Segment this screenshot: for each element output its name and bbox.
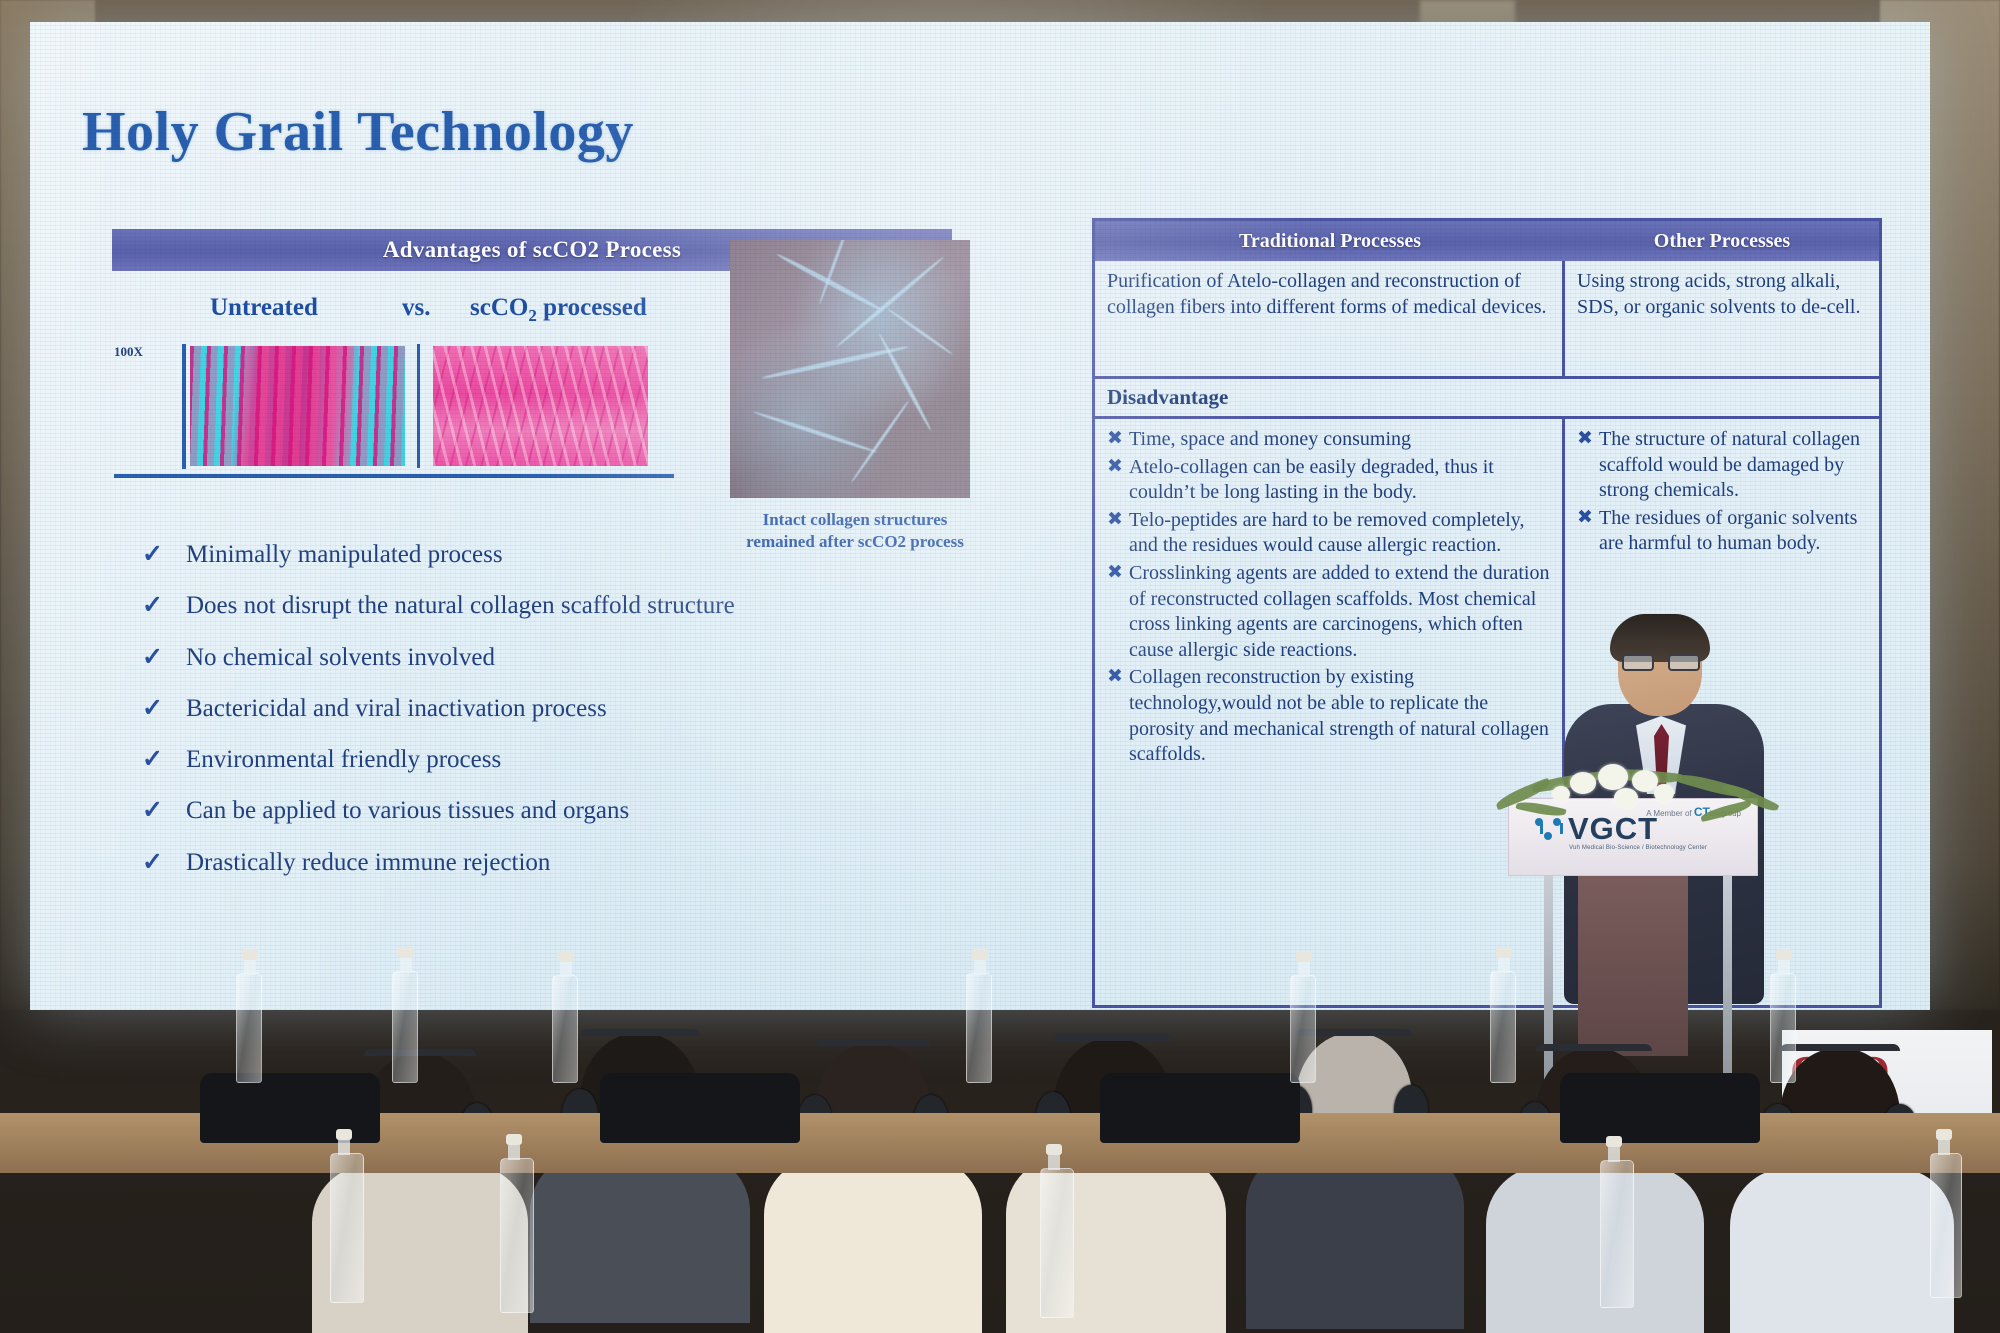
comparison-labels: Untreated vs. scCO2 processed bbox=[180, 294, 820, 330]
water-bottle bbox=[966, 973, 992, 1083]
column-header-traditional: Traditional Processes bbox=[1095, 221, 1565, 261]
disadvantage-traditional-3: ✖Crosslinking agents are added to extend… bbox=[1107, 561, 1550, 663]
shoulders bbox=[764, 1157, 982, 1333]
headset-band bbox=[1536, 1044, 1652, 1051]
cell-traditional-description: Purification of Atelo-collagen and recon… bbox=[1095, 261, 1565, 376]
shoulders bbox=[530, 1153, 750, 1323]
conference-photo: Holy Grail Technology Advantages of scCO… bbox=[0, 0, 2000, 1333]
water-bottle bbox=[330, 1153, 364, 1303]
checklist-item-1: ✓Does not disrupt the natural collagen s… bbox=[142, 593, 862, 619]
vs-label: vs. bbox=[402, 294, 430, 322]
table-row: Purification of Atelo-collagen and recon… bbox=[1095, 261, 1879, 376]
headset-band bbox=[580, 1029, 700, 1036]
cross-icon: ✖ bbox=[1107, 427, 1129, 453]
cross-icon: ✖ bbox=[1577, 506, 1599, 557]
cell-other-description: Using strong acids, strong alkali, SDS, … bbox=[1565, 261, 1879, 376]
disadvantage-traditional-label: Telo-peptides are hard to be removed com… bbox=[1129, 508, 1550, 559]
shoulders bbox=[1486, 1166, 1704, 1333]
cross-icon: ✖ bbox=[1107, 561, 1129, 663]
column-header-other: Other Processes bbox=[1565, 221, 1879, 261]
check-icon: ✓ bbox=[142, 645, 186, 670]
checklist-item-label: No chemical solvents involved bbox=[186, 645, 495, 671]
disadvantage-traditional-label: Collagen reconstruction by existing tech… bbox=[1129, 665, 1550, 767]
water-bottle bbox=[1770, 973, 1796, 1083]
water-bottle bbox=[236, 973, 262, 1083]
checklist-item-label: Environmental friendly process bbox=[186, 747, 501, 773]
checklist-item-2: ✓No chemical solvents involved bbox=[142, 645, 862, 671]
headset-band bbox=[816, 1039, 930, 1046]
headset-band bbox=[1780, 1044, 1900, 1051]
water-bottle bbox=[552, 975, 578, 1083]
audience bbox=[0, 773, 2000, 1333]
shoulders bbox=[1006, 1156, 1226, 1333]
disadvantage-other-label: The structure of natural collagen scaffo… bbox=[1599, 427, 1867, 504]
disadvantage-traditional-0: ✖Time, space and money consuming bbox=[1107, 427, 1550, 453]
water-bottle bbox=[1490, 971, 1516, 1083]
sem-caption-line1: Intact collagen structures bbox=[720, 509, 990, 531]
disadvantage-traditional-1: ✖Atelo-collagen can be easily degraded, … bbox=[1107, 455, 1550, 506]
disadvantage-other-1: ✖The residues of organic solvents are ha… bbox=[1577, 506, 1867, 557]
chair-back bbox=[1100, 1073, 1300, 1143]
magnification-label: 100X bbox=[114, 344, 143, 360]
water-bottle bbox=[392, 971, 418, 1083]
chair-back bbox=[200, 1073, 380, 1143]
micrograph-divider bbox=[417, 344, 420, 468]
micrograph-scco2 bbox=[433, 346, 648, 466]
water-bottle bbox=[1290, 975, 1316, 1083]
scco2-processed-label: scCO2 processed bbox=[470, 294, 647, 326]
cross-icon: ✖ bbox=[1107, 508, 1129, 559]
checklist-item-label: Minimally manipulated process bbox=[186, 542, 503, 568]
cell-traditional-disadvantages: ✖Time, space and money consuming✖Atelo-c… bbox=[1095, 419, 1565, 780]
disadvantage-traditional-label: Crosslinking agents are added to extend … bbox=[1129, 561, 1550, 663]
check-icon: ✓ bbox=[142, 696, 186, 721]
water-bottle bbox=[1600, 1160, 1634, 1308]
table-header-row: Traditional Processes Other Processes bbox=[1095, 221, 1879, 261]
cross-icon: ✖ bbox=[1107, 455, 1129, 506]
check-icon: ✓ bbox=[142, 542, 186, 567]
cross-icon: ✖ bbox=[1107, 665, 1129, 767]
water-bottle bbox=[1930, 1153, 1962, 1298]
water-bottle bbox=[1040, 1168, 1074, 1318]
disadvantage-other-label: The residues of organic solvents are har… bbox=[1599, 506, 1867, 557]
chair-back bbox=[1560, 1073, 1760, 1143]
checklist-item-4: ✓Environmental friendly process bbox=[142, 747, 862, 773]
checklist-item-label: Does not disrupt the natural collagen sc… bbox=[186, 593, 735, 619]
micrograph-pair bbox=[182, 344, 672, 469]
chair-back bbox=[600, 1073, 800, 1143]
page-title: Holy Grail Technology bbox=[82, 100, 634, 164]
check-icon: ✓ bbox=[142, 593, 186, 618]
disadvantage-other-0: ✖The structure of natural collagen scaff… bbox=[1577, 427, 1867, 504]
micrograph-untreated bbox=[190, 346, 405, 466]
headset-band bbox=[1054, 1034, 1172, 1041]
checklist-item-label: Bactericidal and viral inactivation proc… bbox=[186, 696, 607, 722]
check-icon: ✓ bbox=[142, 747, 186, 772]
micrograph-baseline bbox=[114, 474, 674, 478]
untreated-label: Untreated bbox=[210, 294, 318, 322]
shoulders bbox=[1730, 1168, 1954, 1333]
water-bottle bbox=[500, 1158, 534, 1313]
disadvantage-label: Disadvantage bbox=[1095, 379, 1879, 416]
disadvantage-traditional-label: Time, space and money consuming bbox=[1129, 427, 1550, 453]
checklist-item-0: ✓Minimally manipulated process bbox=[142, 542, 862, 568]
cross-icon: ✖ bbox=[1577, 427, 1599, 504]
glasses-icon bbox=[1622, 654, 1700, 671]
disadvantage-traditional-label: Atelo-collagen can be easily degraded, t… bbox=[1129, 455, 1550, 506]
checklist-item-3: ✓Bactericidal and viral inactivation pro… bbox=[142, 696, 862, 722]
shoulders bbox=[1246, 1149, 1464, 1329]
sem-collagen-image bbox=[730, 240, 970, 498]
disadvantage-traditional-2: ✖Telo-peptides are hard to be removed co… bbox=[1107, 508, 1550, 559]
headset-band bbox=[364, 1049, 476, 1056]
disadvantage-traditional-4: ✖Collagen reconstruction by existing tec… bbox=[1107, 665, 1550, 767]
